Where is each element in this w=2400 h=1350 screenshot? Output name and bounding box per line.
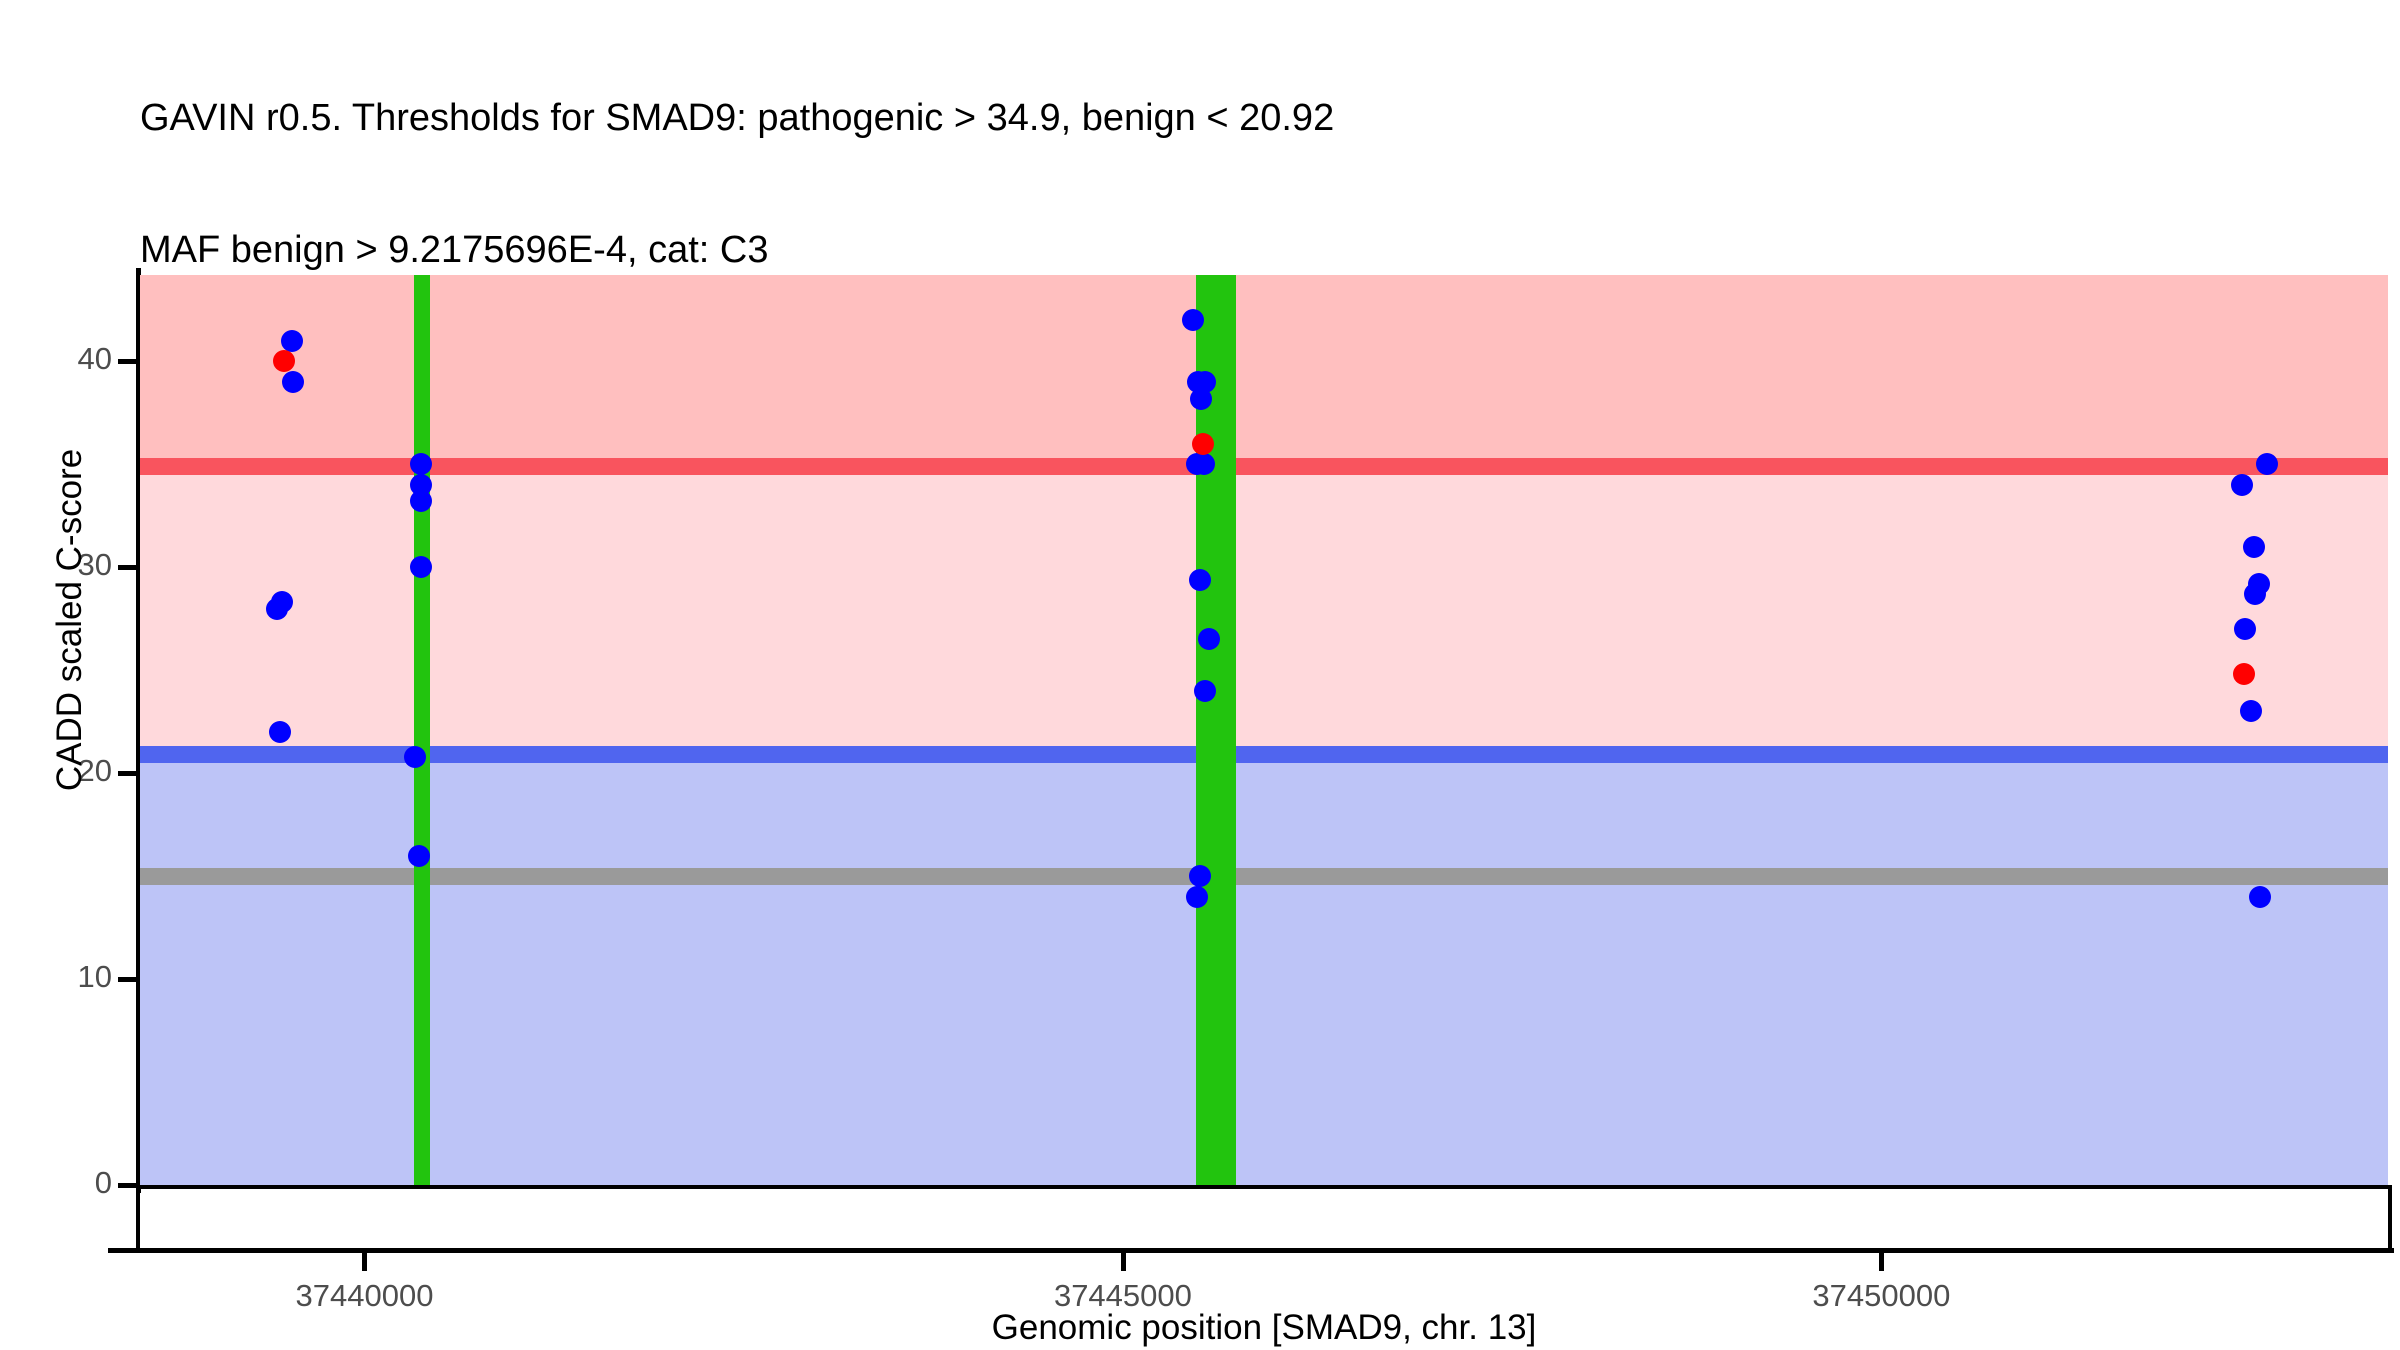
x-axis-title: Genomic position [SMAD9, chr. 13] [140,1308,2388,1348]
title-line-1: GAVIN r0.5. Thresholds for SMAD9: pathog… [140,96,2340,140]
x-tick-mark [1121,1253,1126,1271]
x-tick-mark [362,1253,367,1271]
data-point [281,330,303,352]
threshold-line-benign [140,746,2388,763]
panel-left-border [136,1185,140,1249]
zone-benign [140,754,2388,1185]
zone-vous [140,466,2388,754]
y-tick-mark [118,771,138,776]
data-point [1190,388,1212,410]
threshold-line-genome-wide-fallback [140,868,2388,885]
gavin-cadd-scatter-figure: GAVIN r0.5. Thresholds for SMAD9: pathog… [0,0,2400,1350]
panel-right-border [2388,1185,2392,1249]
y-tick-mark [118,1183,138,1188]
exon-band [414,275,430,1185]
threshold-line-pathogenic [140,458,2388,475]
data-point [2249,886,2271,908]
title-line-2: MAF benign > 9.2175696E-4, cat: C3 [140,228,2340,272]
plot-panel [140,275,2388,1185]
data-point [410,453,432,475]
data-point [271,591,293,613]
y-tick-mark [118,977,138,982]
y-tick-label: 0 [95,1165,112,1201]
x-tick-mark [1879,1253,1884,1271]
y-axis-title: CADD scaled C-score [50,270,90,970]
data-point [2243,536,2265,558]
data-point [1186,886,1208,908]
data-point [404,746,426,768]
data-point [2231,474,2253,496]
data-point [1189,569,1211,591]
panel-bottom-border [140,1185,2388,1189]
exon-band [1196,275,1236,1185]
data-point [410,490,432,512]
data-point [1192,433,1214,455]
data-point [408,845,430,867]
data-point [1194,680,1216,702]
x-axis-line [108,1248,2394,1253]
y-tick-mark [118,359,138,364]
zone-pathogenic [140,275,2388,466]
data-point [410,556,432,578]
y-tick-mark [118,565,138,570]
